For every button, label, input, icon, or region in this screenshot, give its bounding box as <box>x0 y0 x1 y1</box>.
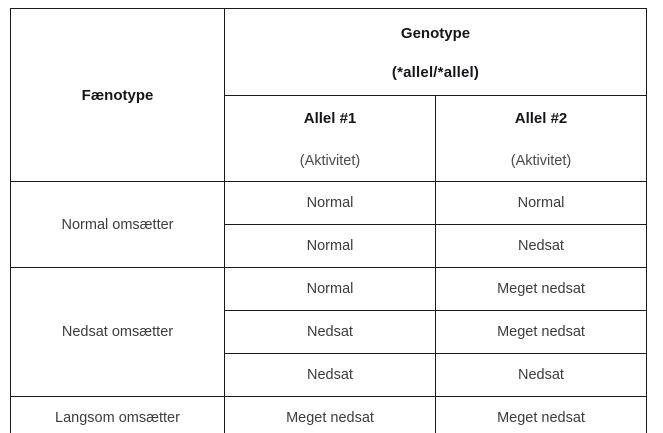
allele-1-cell: Normal <box>225 225 436 268</box>
phenotype-group-cell: Normal omsætter <box>11 182 225 268</box>
allele-2-cell: Nedsat <box>436 354 647 397</box>
allele-2-value: Meget nedsat <box>497 410 585 426</box>
genotype-header-stack: Genotype (*allel/*allel) <box>225 9 646 95</box>
allele-1-value: Meget nedsat <box>286 410 374 426</box>
table-row: Normal omsætter Normal Normal <box>11 182 647 225</box>
allele-1-value: Normal <box>307 238 354 254</box>
allele-1-cell: Normal <box>225 268 436 311</box>
header-label-genotype: Genotype <box>401 25 470 42</box>
allele-2-value: Meget nedsat <box>497 324 585 340</box>
allele-1-value: Normal <box>307 281 354 297</box>
header-sublabel-allele-1-activity: (Aktivitet) <box>300 153 360 169</box>
header-label-phenotype: Fænotype <box>82 87 154 104</box>
allele-1-cell: Nedsat <box>225 311 436 354</box>
header-cell-phenotype: Fænotype <box>11 9 225 182</box>
allele-2-cell: Meget nedsat <box>436 268 647 311</box>
phenotype-group-label: Normal omsætter <box>62 217 174 233</box>
header-cell-allele-1: Allel #1 (Aktivitet) <box>225 96 436 182</box>
allele-1-value: Normal <box>307 195 354 211</box>
allele-1-value: Nedsat <box>307 367 353 383</box>
phenotype-group-cell: Langsom omsætter <box>11 397 225 433</box>
header-label-allele-1: Allel #1 <box>304 110 357 127</box>
allele-2-value: Normal <box>518 195 565 211</box>
allele-2-cell: Normal <box>436 182 647 225</box>
allele-1-cell: Nedsat <box>225 354 436 397</box>
allele-2-cell: Nedsat <box>436 225 647 268</box>
table-header-row-genotype: Fænotype Genotype (*allel/*allel) <box>11 9 647 96</box>
header-cell-genotype: Genotype (*allel/*allel) <box>225 9 647 96</box>
page-root: Fænotype Genotype (*allel/*allel) Allel … <box>0 0 663 433</box>
phenotype-group-cell: Nedsat omsætter <box>11 268 225 397</box>
allele-1-cell: Normal <box>225 182 436 225</box>
phenotype-group-label: Langsom omsætter <box>55 410 180 426</box>
allele-1-header-stack: Allel #1 (Aktivitet) <box>225 96 435 181</box>
table-row: Langsom omsætter Meget nedsat Meget neds… <box>11 397 647 433</box>
allele-2-value: Nedsat <box>518 367 564 383</box>
genotype-phenotype-table: Fænotype Genotype (*allel/*allel) Allel … <box>10 8 647 433</box>
table-row: Nedsat omsætter Normal Meget nedsat <box>11 268 647 311</box>
allele-2-value: Nedsat <box>518 238 564 254</box>
header-sublabel-genotype-allele-notation: (*allel/*allel) <box>392 64 479 81</box>
header-sublabel-allele-2-activity: (Aktivitet) <box>511 153 571 169</box>
allele-1-cell: Meget nedsat <box>225 397 436 433</box>
allele-2-cell: Meget nedsat <box>436 311 647 354</box>
header-label-allele-2: Allel #2 <box>515 110 568 127</box>
allele-2-value: Meget nedsat <box>497 281 585 297</box>
header-cell-allele-2: Allel #2 (Aktivitet) <box>436 96 647 182</box>
phenotype-group-label: Nedsat omsætter <box>62 324 173 340</box>
allele-2-header-stack: Allel #2 (Aktivitet) <box>436 96 646 181</box>
allele-2-cell: Meget nedsat <box>436 397 647 433</box>
allele-1-value: Nedsat <box>307 324 353 340</box>
